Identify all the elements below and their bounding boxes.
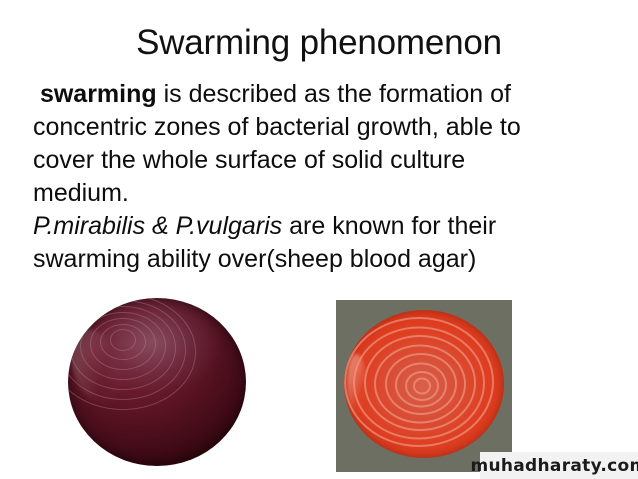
petri-dish-dark xyxy=(68,298,246,466)
body-line-2-rest: concentric zones of bacterial growth, ab… xyxy=(33,113,521,141)
swarm-ring xyxy=(374,345,466,424)
swarm-ring xyxy=(405,371,439,401)
page-title: Swarming phenomenon xyxy=(0,22,638,64)
swarm-ring xyxy=(413,378,431,395)
body-line-3: cover the whole surface of solid culture xyxy=(33,144,578,177)
slide-canvas: Swarming phenomenon swarming is describe… xyxy=(0,0,638,479)
body-line-2: concentric zones of bacterial growth, ab… xyxy=(33,111,578,144)
watermark-banner: muhadharaty.com xyxy=(480,452,638,479)
body-line-4-rest: medium. xyxy=(33,179,129,207)
body-line-5-rest: are known for their xyxy=(282,212,496,240)
swarm-ring xyxy=(395,363,447,408)
body-line-1: swarming is described as the formation o… xyxy=(33,78,578,111)
swarm-ring xyxy=(110,329,136,351)
keyword-swarming: swarming xyxy=(33,80,157,108)
image-credit-text xyxy=(116,459,241,468)
species-names: P.mirabilis & P.vulgaris xyxy=(33,212,282,240)
swarm-ring xyxy=(364,335,476,431)
blood-agar-plate-dark-image xyxy=(66,296,250,472)
blood-agar-plate-bright-image xyxy=(336,300,512,472)
swarm-ring xyxy=(385,353,457,415)
dish-gloss-highlight xyxy=(68,323,130,411)
dish-gloss-highlight xyxy=(347,354,366,413)
body-line-3-rest: cover the whole surface of solid culture xyxy=(33,146,465,174)
body-text-block: swarming is described as the formation o… xyxy=(33,78,578,276)
swarm-ring xyxy=(344,317,494,447)
swarm-ring xyxy=(353,327,485,440)
body-line-6-rest: swarming ability over(sheep blood agar) xyxy=(33,245,476,273)
body-line-5: P.mirabilis & P.vulgaris are known for t… xyxy=(33,210,578,243)
petri-dish-bright xyxy=(344,310,504,458)
body-line-6: swarming ability over(sheep blood agar) xyxy=(33,243,578,276)
watermark-text: muhadharaty.com xyxy=(470,456,638,476)
body-line-1-rest: is described as the formation of xyxy=(157,80,511,108)
body-line-4: medium. xyxy=(33,177,578,210)
